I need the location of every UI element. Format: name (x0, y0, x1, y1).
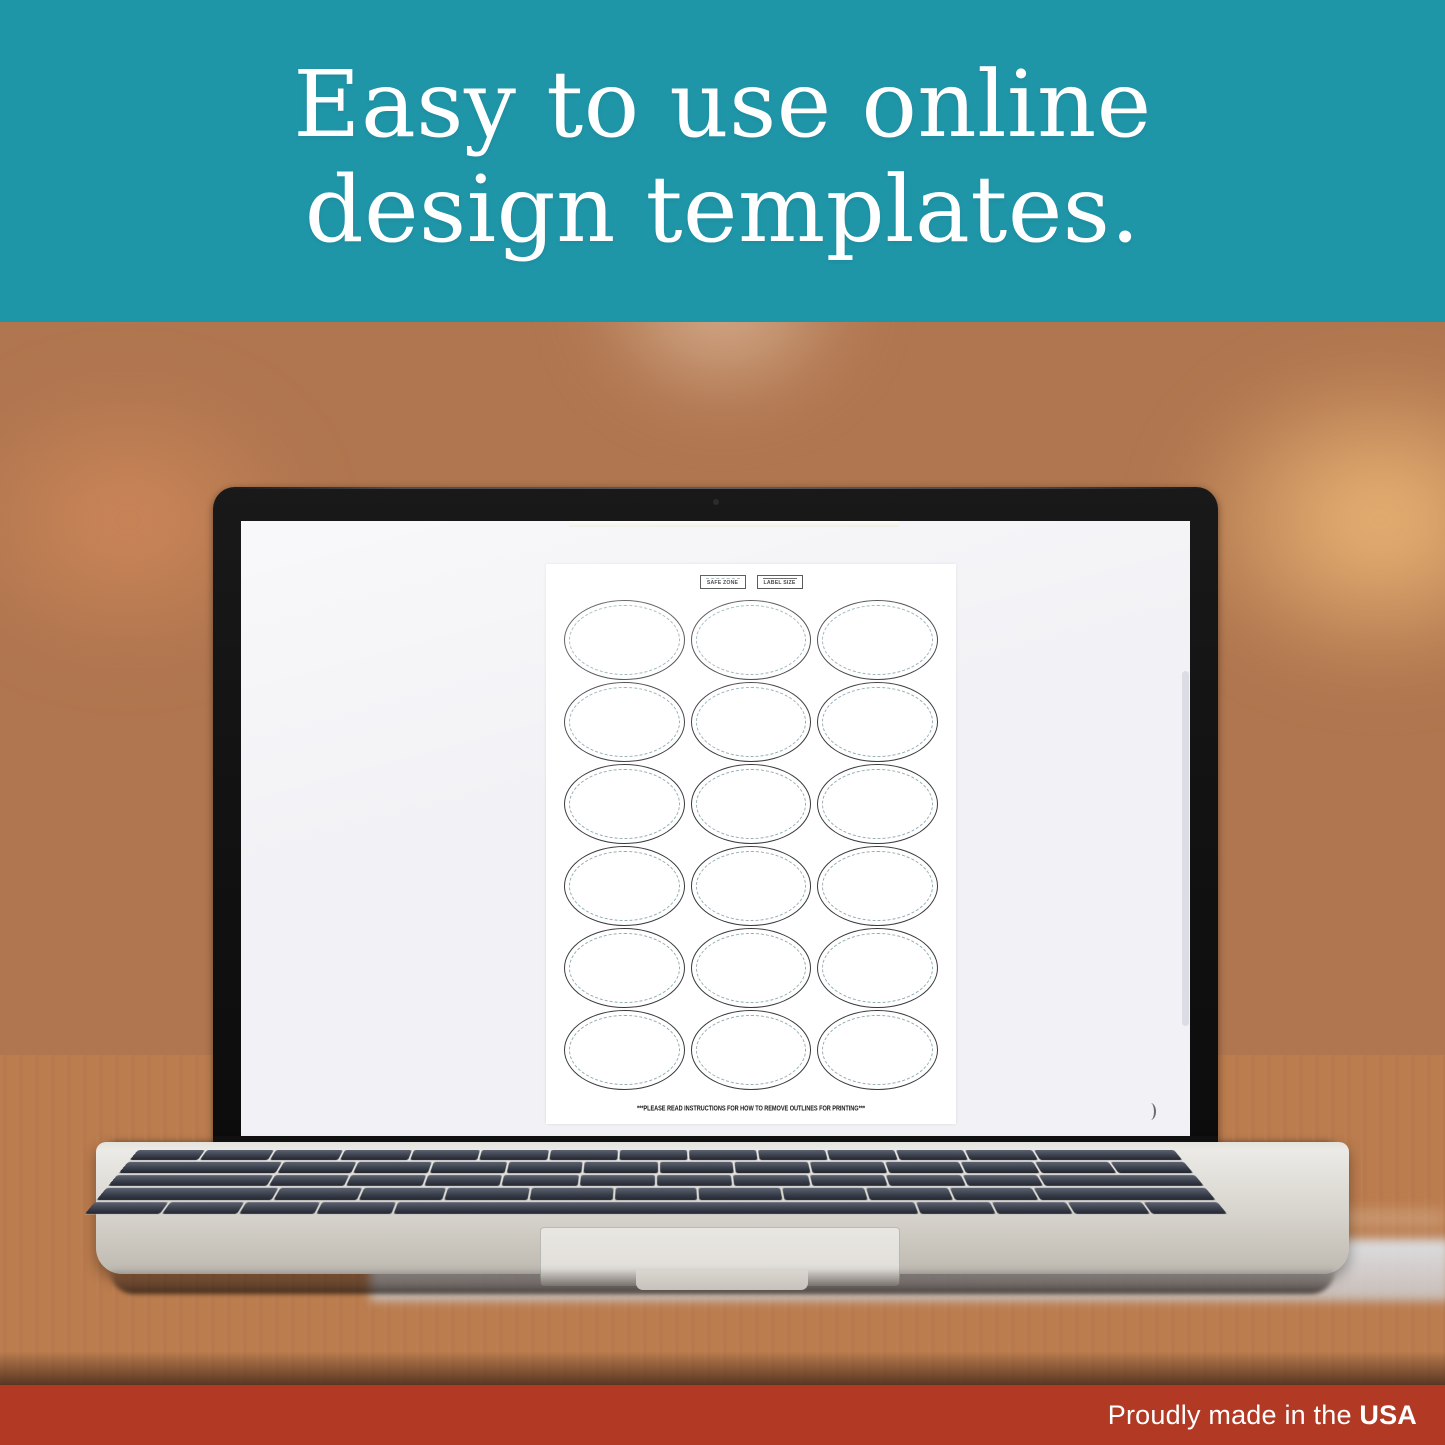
legend-chip-label-size: LABEL SIZE (757, 575, 803, 589)
key[interactable] (758, 1150, 828, 1160)
label-oval[interactable] (817, 764, 938, 844)
label-oval[interactable] (564, 764, 685, 844)
safe-zone-outline-icon (822, 687, 933, 757)
safe-zone-outline-icon (822, 605, 933, 675)
laptop-lid: SAFE ZONE LABEL SIZE (213, 487, 1218, 1152)
key[interactable] (119, 1162, 282, 1173)
key[interactable] (269, 1175, 350, 1186)
key[interactable] (108, 1175, 273, 1186)
keyboard-row (129, 1150, 1182, 1160)
label-template-sheet[interactable]: SAFE ZONE LABEL SIZE (546, 564, 956, 1124)
legend-label-safe-zone: SAFE ZONE (707, 581, 738, 586)
key[interactable] (507, 1162, 583, 1173)
mouse-cursor-icon (1147, 1103, 1156, 1120)
label-oval[interactable] (564, 682, 685, 762)
safe-zone-swatch-icon (706, 578, 740, 579)
key[interactable] (886, 1175, 966, 1186)
key[interactable] (85, 1202, 169, 1214)
label-oval[interactable] (817, 928, 938, 1008)
poster-root: Easy to use online design templates. (0, 0, 1445, 1445)
key[interactable] (950, 1188, 1038, 1200)
key[interactable] (269, 1150, 342, 1160)
key[interactable] (783, 1188, 868, 1200)
safe-zone-outline-icon (696, 605, 807, 675)
key[interactable] (277, 1162, 357, 1173)
key[interactable] (129, 1150, 205, 1160)
key[interactable] (409, 1150, 480, 1160)
key[interactable] (239, 1202, 320, 1214)
key[interactable] (444, 1188, 529, 1200)
product-photo-scene: SAFE ZONE LABEL SIZE (0, 322, 1445, 1385)
safe-zone-outline-icon (822, 1015, 933, 1085)
key[interactable] (579, 1175, 655, 1186)
safe-zone-outline-icon (569, 1015, 680, 1085)
key[interactable] (689, 1150, 758, 1160)
app-toolbar-sliver (569, 521, 899, 527)
label-oval[interactable] (691, 846, 812, 926)
keyboard-row (108, 1175, 1204, 1186)
key[interactable] (273, 1188, 361, 1200)
label-oval[interactable] (817, 846, 938, 926)
safe-zone-outline-icon (822, 851, 933, 921)
key[interactable] (810, 1175, 888, 1186)
label-oval[interactable] (691, 764, 812, 844)
key[interactable] (885, 1162, 963, 1173)
keyboard-row (97, 1188, 1216, 1200)
key[interactable] (614, 1188, 697, 1200)
key[interactable] (1036, 1162, 1117, 1173)
key[interactable] (529, 1188, 613, 1200)
key[interactable] (1034, 1188, 1215, 1200)
key[interactable] (735, 1162, 811, 1173)
key[interactable] (316, 1202, 396, 1214)
label-oval[interactable] (817, 682, 938, 762)
key[interactable] (916, 1202, 996, 1214)
label-oval[interactable] (691, 600, 812, 680)
key[interactable] (962, 1175, 1043, 1186)
keyboard-row (119, 1162, 1193, 1173)
key[interactable] (657, 1175, 733, 1186)
key[interactable] (1039, 1175, 1204, 1186)
key[interactable] (827, 1150, 898, 1160)
safe-zone-outline-icon (822, 933, 933, 1003)
safe-zone-outline-icon (569, 687, 680, 757)
safe-zone-outline-icon (822, 769, 933, 839)
key[interactable] (867, 1188, 954, 1200)
key[interactable] (1111, 1162, 1193, 1173)
safe-zone-outline-icon (569, 933, 680, 1003)
safe-zone-outline-icon (696, 687, 807, 757)
laptop-keyboard[interactable] (85, 1150, 1227, 1214)
key[interactable] (733, 1175, 810, 1186)
safe-zone-outline-icon (696, 769, 807, 839)
key[interactable] (339, 1150, 411, 1160)
key[interactable] (354, 1162, 432, 1173)
label-oval[interactable] (691, 1010, 812, 1090)
header-banner: Easy to use online design templates. (0, 0, 1445, 322)
key[interactable] (1034, 1150, 1183, 1160)
keyboard-row (85, 1202, 1227, 1214)
key[interactable] (992, 1202, 1073, 1214)
template-legend: SAFE ZONE LABEL SIZE (546, 575, 956, 589)
label-oval[interactable] (564, 600, 685, 680)
footer-prefix: Proudly made in the (1108, 1400, 1360, 1430)
key[interactable] (699, 1188, 783, 1200)
template-printing-note: ***PLEASE READ INSTRUCTIONS FOR HOW TO R… (546, 1105, 956, 1113)
safe-zone-outline-icon (696, 851, 807, 921)
label-oval[interactable] (564, 928, 685, 1008)
headline-line-1: Easy to use online (293, 51, 1151, 158)
key[interactable] (162, 1202, 244, 1214)
safe-zone-outline-icon (569, 769, 680, 839)
key[interactable] (502, 1175, 579, 1186)
safe-zone-outline-icon (569, 605, 680, 675)
key[interactable] (965, 1150, 1038, 1160)
footer-emphasis: USA (1359, 1400, 1417, 1430)
key[interactable] (1143, 1202, 1227, 1214)
key[interactable] (424, 1175, 502, 1186)
key[interactable] (199, 1150, 273, 1160)
safe-zone-outline-icon (569, 851, 680, 921)
key[interactable] (550, 1150, 619, 1160)
footer-banner: Proudly made in the USA (0, 1385, 1445, 1445)
headline-line-2: design templates. (293, 158, 1151, 263)
legend-chip-safe-zone: SAFE ZONE (700, 575, 746, 589)
key[interactable] (430, 1162, 507, 1173)
safe-zone-outline-icon (696, 933, 807, 1003)
label-size-swatch-icon (763, 578, 797, 579)
spacebar-key[interactable] (394, 1202, 919, 1214)
label-oval[interactable] (564, 846, 685, 926)
key[interactable] (620, 1150, 688, 1160)
laptop-screen[interactable]: SAFE ZONE LABEL SIZE (241, 521, 1190, 1136)
label-oval[interactable] (691, 928, 812, 1008)
label-oval[interactable] (817, 1010, 938, 1090)
key[interactable] (810, 1162, 887, 1173)
key[interactable] (1068, 1202, 1150, 1214)
label-oval[interactable] (691, 682, 812, 762)
label-oval[interactable] (564, 1010, 685, 1090)
label-oval[interactable] (817, 600, 938, 680)
key[interactable] (960, 1162, 1040, 1173)
screen-scrollbar[interactable] (1181, 521, 1190, 1136)
key[interactable] (359, 1188, 446, 1200)
page-title: Easy to use online design templates. (293, 53, 1151, 269)
key[interactable] (660, 1162, 734, 1173)
scrollbar-thumb[interactable] (1182, 671, 1189, 1026)
key[interactable] (346, 1175, 426, 1186)
webcam-icon (713, 499, 719, 505)
base-front-notch (636, 1270, 808, 1290)
key[interactable] (896, 1150, 968, 1160)
safe-zone-outline-icon (696, 1015, 807, 1085)
key[interactable] (583, 1162, 657, 1173)
made-in-usa-text: Proudly made in the USA (1108, 1400, 1417, 1431)
legend-label-label-size: LABEL SIZE (764, 581, 796, 586)
key[interactable] (480, 1150, 550, 1160)
laptop: SAFE ZONE LABEL SIZE (0, 322, 1445, 1385)
key[interactable] (97, 1188, 278, 1200)
oval-label-grid (564, 600, 938, 1090)
